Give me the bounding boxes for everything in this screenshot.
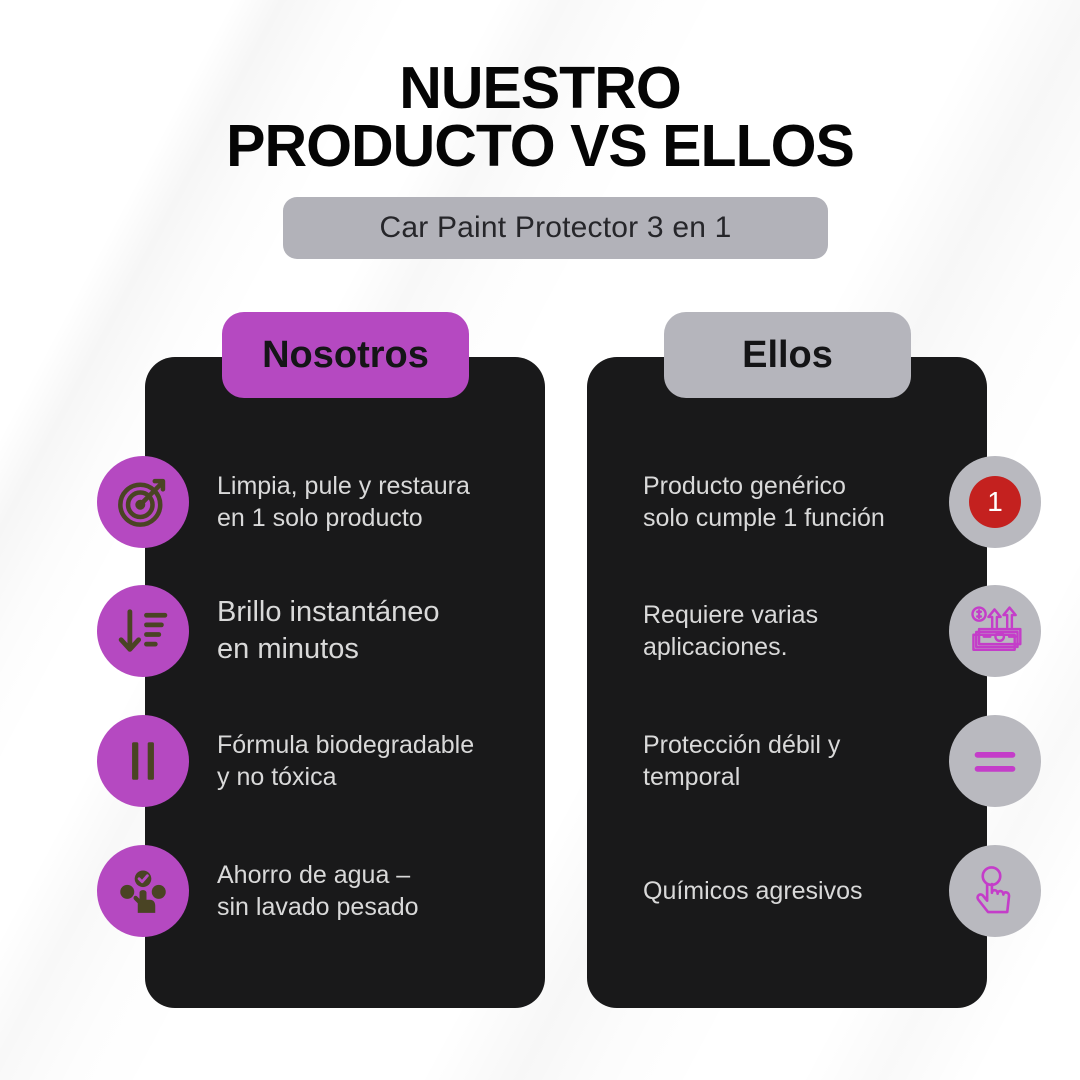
page-header: NUESTRO PRODUCTO VS ELLOS bbox=[0, 60, 1080, 176]
column-badge-us: Nosotros bbox=[222, 312, 469, 398]
pause-bars-icon bbox=[97, 715, 189, 807]
list-item-text: Fórmula biodegradable y no tóxica bbox=[217, 729, 474, 793]
money-increase-icon bbox=[949, 585, 1041, 677]
badge-number: 1 bbox=[969, 476, 1021, 528]
list-item: Limpia, pule y restaura en 1 solo produc… bbox=[97, 456, 537, 548]
list-item: Brillo instantáneo en minutos bbox=[97, 585, 537, 677]
list-item: Requiere varias aplicaciones. bbox=[643, 585, 1041, 677]
list-item-text: Químicos agresivos bbox=[643, 875, 935, 907]
hand-tap-icon bbox=[949, 845, 1041, 937]
list-item-text: Producto genérico solo cumple 1 función bbox=[643, 470, 935, 534]
sort-descending-icon bbox=[97, 585, 189, 677]
number-one-badge-icon: 1 bbox=[949, 456, 1041, 548]
column-badge-them-label: Ellos bbox=[742, 334, 833, 377]
target-arrow-icon bbox=[97, 456, 189, 548]
list-item-text: Ahorro de agua – sin lavado pesado bbox=[217, 859, 419, 923]
hand-select-check-icon bbox=[97, 845, 189, 937]
subtitle-text: Car Paint Protector 3 en 1 bbox=[379, 211, 731, 245]
page-title-line-1: NUESTRO bbox=[0, 60, 1080, 118]
subtitle-pill: Car Paint Protector 3 en 1 bbox=[283, 197, 828, 259]
list-item-text: Limpia, pule y restaura en 1 solo produc… bbox=[217, 470, 470, 534]
infographic-stage: NUESTRO PRODUCTO VS ELLOS Car Paint Prot… bbox=[0, 0, 1080, 1080]
list-item-text: Protección débil y temporal bbox=[643, 729, 935, 793]
page-title-line-2: PRODUCTO VS ELLOS bbox=[0, 118, 1080, 176]
list-item: Producto genérico solo cumple 1 función … bbox=[643, 456, 1041, 548]
equals-sign-icon bbox=[949, 715, 1041, 807]
column-badge-them: Ellos bbox=[664, 312, 911, 398]
list-item-text: Requiere varias aplicaciones. bbox=[643, 599, 935, 663]
list-item: Protección débil y temporal bbox=[643, 715, 1041, 807]
list-item: Fórmula biodegradable y no tóxica bbox=[97, 715, 537, 807]
list-item: Ahorro de agua – sin lavado pesado bbox=[97, 845, 537, 937]
list-item-text: Brillo instantáneo en minutos bbox=[217, 594, 439, 668]
column-badge-us-label: Nosotros bbox=[262, 334, 429, 377]
list-item: Químicos agresivos bbox=[643, 845, 1041, 937]
